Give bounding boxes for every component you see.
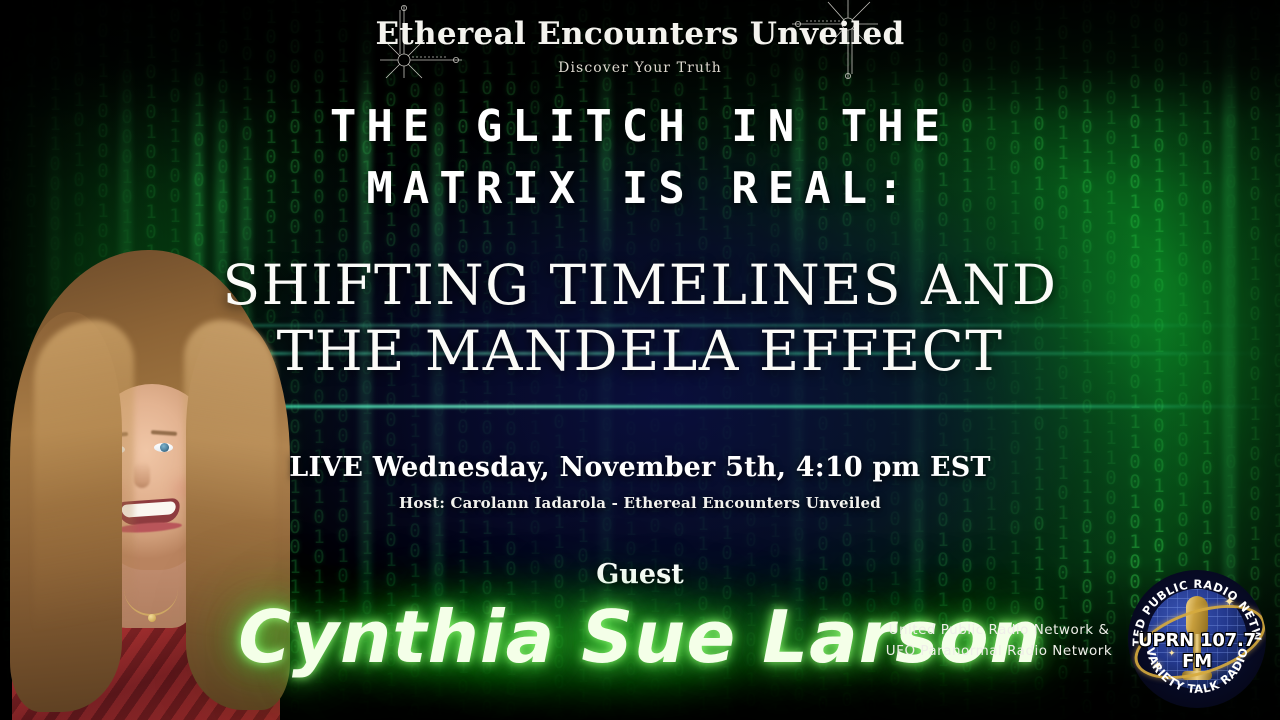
subtitle-line-1: SHIFTING TIMELINES AND (0, 252, 1280, 318)
badge-frequency: UPRN 107.7 FM (1128, 630, 1266, 672)
promo-poster: 0 0 0 0 0 0 0 1 1 1 0 0 1 0 0 0 0 1 0 1 … (0, 0, 1280, 720)
portrait-eye (154, 443, 173, 452)
network-line-2: UFO Paranormal Radio Network (884, 641, 1114, 662)
episode-subtitle: SHIFTING TIMELINES AND THE MANDELA EFFEC… (0, 252, 1280, 384)
guest-label: Guest (0, 559, 1280, 590)
title-line-2: MATRIX IS REAL: (0, 158, 1280, 220)
title-line-1: THE GLITCH IN THE (0, 96, 1280, 158)
brand-title: Ethereal Encounters Unveiled (0, 18, 1280, 51)
network-credit: United Public Radio Network & UFO Parano… (884, 620, 1114, 662)
episode-title: THE GLITCH IN THE MATRIX IS REAL: (0, 96, 1280, 220)
brand-tagline: Discover Your Truth (0, 60, 1280, 76)
schedule-block: LIVE Wednesday, November 5th, 4:10 pm ES… (0, 452, 1280, 512)
live-datetime: LIVE Wednesday, November 5th, 4:10 pm ES… (0, 452, 1280, 483)
brand-logo: Ethereal Encounters Unveiled Discover Yo… (0, 18, 1280, 76)
host-credit: Host: Carolann Iadarola - Ethereal Encou… (0, 494, 1280, 512)
uprn-radio-badge[interactable]: ✦ ✦ ✦ UNITED PUBLIC RADIO NETWORK VARIET… (1128, 570, 1266, 708)
subtitle-line-2: THE MANDELA EFFECT (0, 318, 1280, 384)
network-line-1: United Public Radio Network & (884, 620, 1114, 641)
